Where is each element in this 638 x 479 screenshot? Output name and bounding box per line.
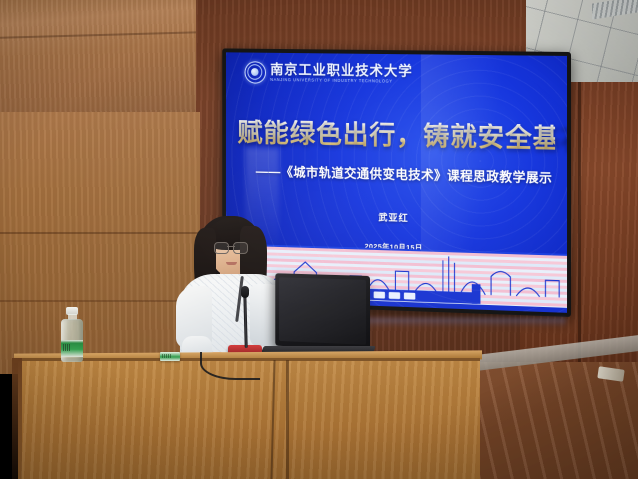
microphone-head-icon[interactable] [241,286,249,298]
mouth [226,262,237,265]
university-seal-icon [244,61,265,84]
upper-left-wood-wall [0,0,200,120]
podium-left-edge [12,358,22,479]
lecture-hall-photo: 南京工业职业技术大学 NANJING UNIVERSITY OF INDUSTR… [0,0,638,479]
slide-subtitle: ——《城市轨道交通供变电技术》课程思政教学展示 [256,161,557,187]
bottle-label [61,340,83,357]
university-name-en: NANJING UNIVERSITY OF INDUSTRY TECHNOLOG… [270,78,413,84]
wall-seam [0,232,200,234]
podium-panel-seam [286,360,289,479]
laptop-screen-back[interactable] [275,273,370,350]
water-bottle[interactable] [60,307,84,362]
green-package-item[interactable] [160,352,180,361]
eyeglasses [214,242,248,252]
wall-seam-lower [0,300,200,302]
university-name-cn: 南京工业职业技术大学 [270,63,413,78]
university-wordmark: 南京工业职业技术大学 NANJING UNIVERSITY OF INDUSTR… [270,63,413,85]
slide-header: 南京工业职业技术大学 NANJING UNIVERSITY OF INDUSTR… [244,61,413,86]
slide-title: 赋能绿色出行，铸就安全基石 [237,119,554,154]
left-lower-wood-wall [0,112,200,374]
